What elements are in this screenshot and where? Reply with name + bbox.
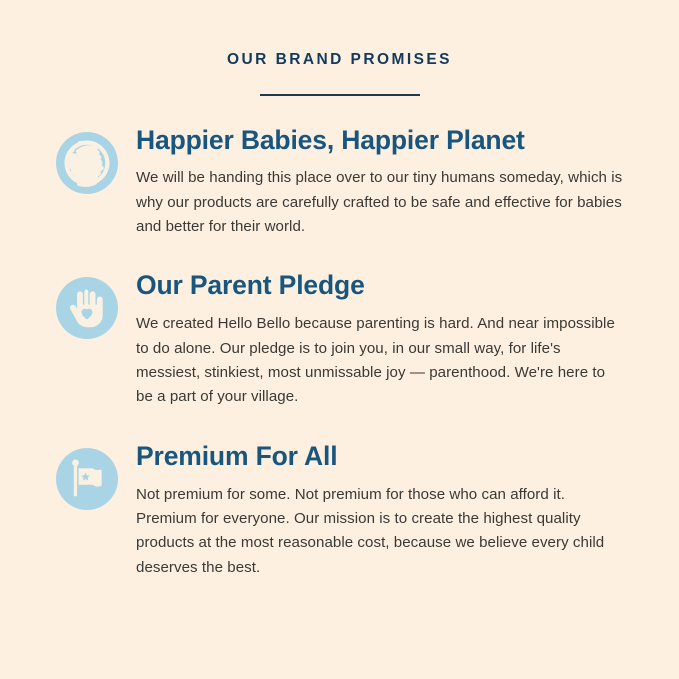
promise-body: We will be handing this place over to ou… — [136, 166, 624, 239]
header-divider — [260, 94, 420, 96]
promise-icon-column — [56, 132, 118, 194]
promise-title: Premium For All — [136, 442, 624, 472]
promise-body: We created Hello Bello because parenting… — [136, 312, 624, 410]
promise-item: Our Parent Pledge We created Hello Bello… — [56, 271, 624, 409]
page-title: OUR BRAND PROMISES — [0, 52, 679, 68]
brand-promises-page: OUR BRAND PROMISES Happier Babies, Happi… — [0, 0, 679, 679]
promise-title: Our Parent Pledge — [136, 271, 624, 301]
promise-text-column: Happier Babies, Happier Planet We will b… — [118, 126, 624, 240]
promise-item: Happier Babies, Happier Planet We will b… — [56, 126, 624, 240]
flag-star-icon — [56, 448, 118, 510]
promise-item: Premium For All Not premium for some. No… — [56, 442, 624, 580]
page-header: OUR BRAND PROMISES — [0, 0, 679, 96]
promise-icon-column — [56, 277, 118, 339]
divider-wrap — [0, 94, 679, 96]
promise-text-column: Our Parent Pledge We created Hello Bello… — [118, 271, 624, 409]
promise-title: Happier Babies, Happier Planet — [136, 126, 624, 156]
promise-list: Happier Babies, Happier Planet We will b… — [0, 126, 679, 581]
promise-icon-column — [56, 448, 118, 510]
hand-heart-icon — [56, 277, 118, 339]
promise-text-column: Premium For All Not premium for some. No… — [118, 442, 624, 580]
promise-body: Not premium for some. Not premium for th… — [136, 483, 624, 581]
globe-icon — [56, 132, 118, 194]
